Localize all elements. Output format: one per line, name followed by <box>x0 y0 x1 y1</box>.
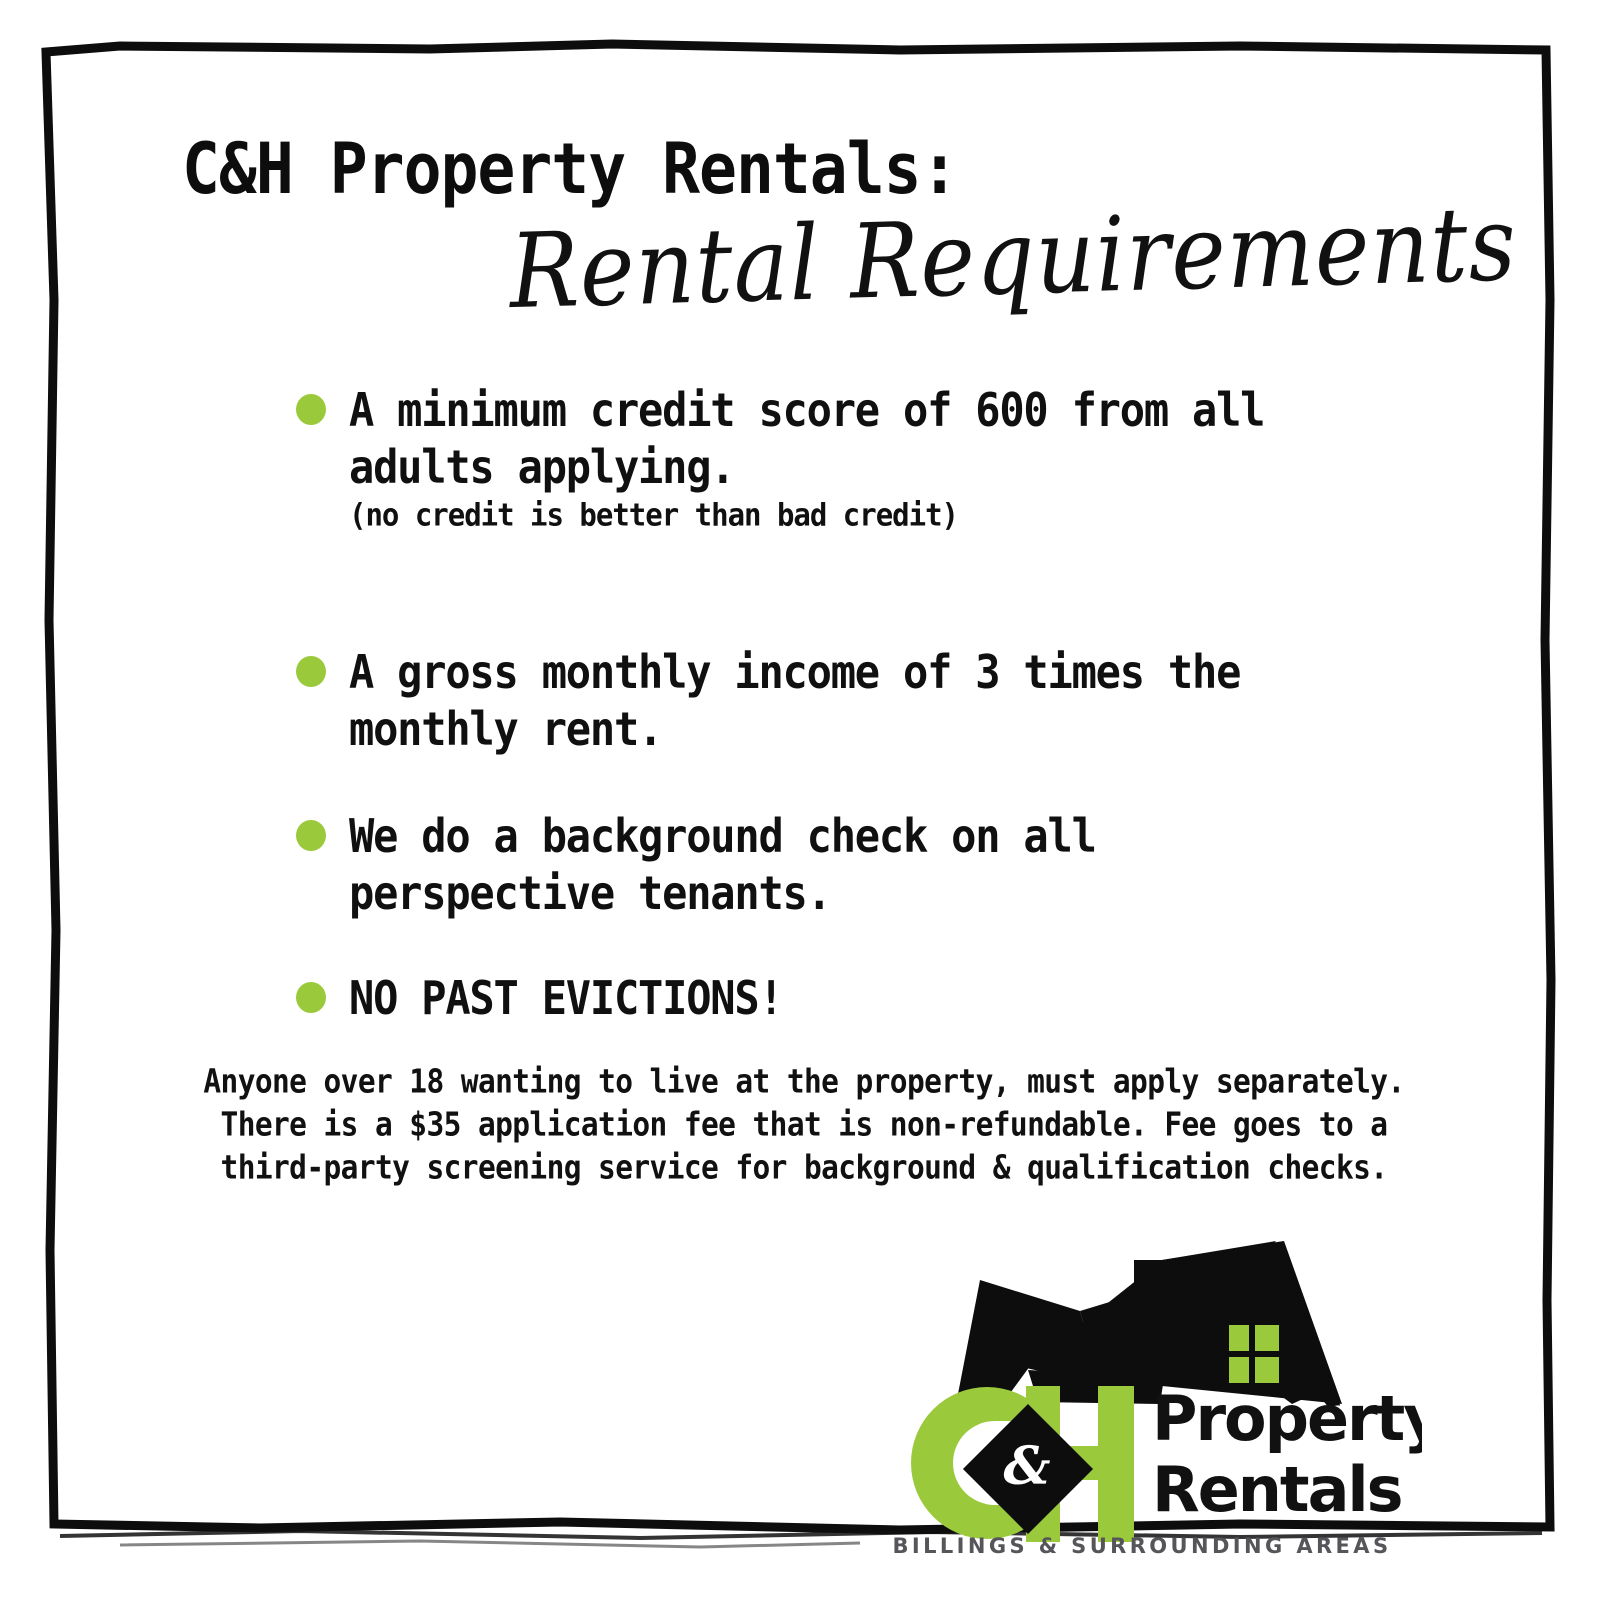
logo-artwork: & Property Rentals BILLINGS & SURROUNDIN… <box>862 1208 1422 1600</box>
logo-name-line-2: Rentals <box>1152 1453 1402 1526</box>
spacer <box>296 532 1356 644</box>
requirement-text: NO PAST EVICTIONS! <box>349 970 783 1027</box>
list-item: A minimum credit score of 600 from all a… <box>296 382 1356 532</box>
rental-requirements-flyer: C&H Property Rentals: Rental Requirement… <box>0 0 1600 1600</box>
requirement-text: A minimum credit score of 600 from all a… <box>349 382 1356 496</box>
heading-block: C&H Property Rentals: Rental Requirement… <box>0 0 1600 340</box>
list-item: We do a background check on all perspect… <box>296 808 1356 912</box>
green-bullet-icon <box>296 394 326 425</box>
fineprint-line-2: There is a $35 application fee that is n… <box>98 1101 1510 1149</box>
requirement-text: A gross monthly income of 3 times the mo… <box>349 644 1356 758</box>
fineprint-line-3: third-party screening service for backgr… <box>98 1144 1510 1192</box>
fineprint-paragraph: Anyone over 18 wanting to live at the pr… <box>98 1058 1510 1187</box>
requirement-note: (no credit is better than bad credit) <box>349 494 1356 535</box>
logo-tagline: BILLINGS & SURROUNDING AREAS <box>893 1534 1392 1558</box>
green-bullet-icon <box>296 656 326 687</box>
green-bullet-icon <box>296 982 326 1013</box>
logo-name-line-1: Property <box>1152 1382 1422 1455</box>
list-item: NO PAST EVICTIONS! <box>296 970 1356 1022</box>
list-item: A gross monthly income of 3 times the mo… <box>296 644 1356 748</box>
requirement-text: We do a background check on all perspect… <box>349 808 1356 922</box>
svg-text:&: & <box>1004 1436 1051 1497</box>
requirements-list: A minimum credit score of 600 from all a… <box>296 382 1356 1022</box>
green-bullet-icon <box>296 820 326 851</box>
company-logo: & Property Rentals BILLINGS & SURROUNDIN… <box>862 1208 1422 1600</box>
page-title: C&H Property Rentals: <box>182 128 958 210</box>
fineprint-line-1: Anyone over 18 wanting to live at the pr… <box>98 1058 1510 1106</box>
